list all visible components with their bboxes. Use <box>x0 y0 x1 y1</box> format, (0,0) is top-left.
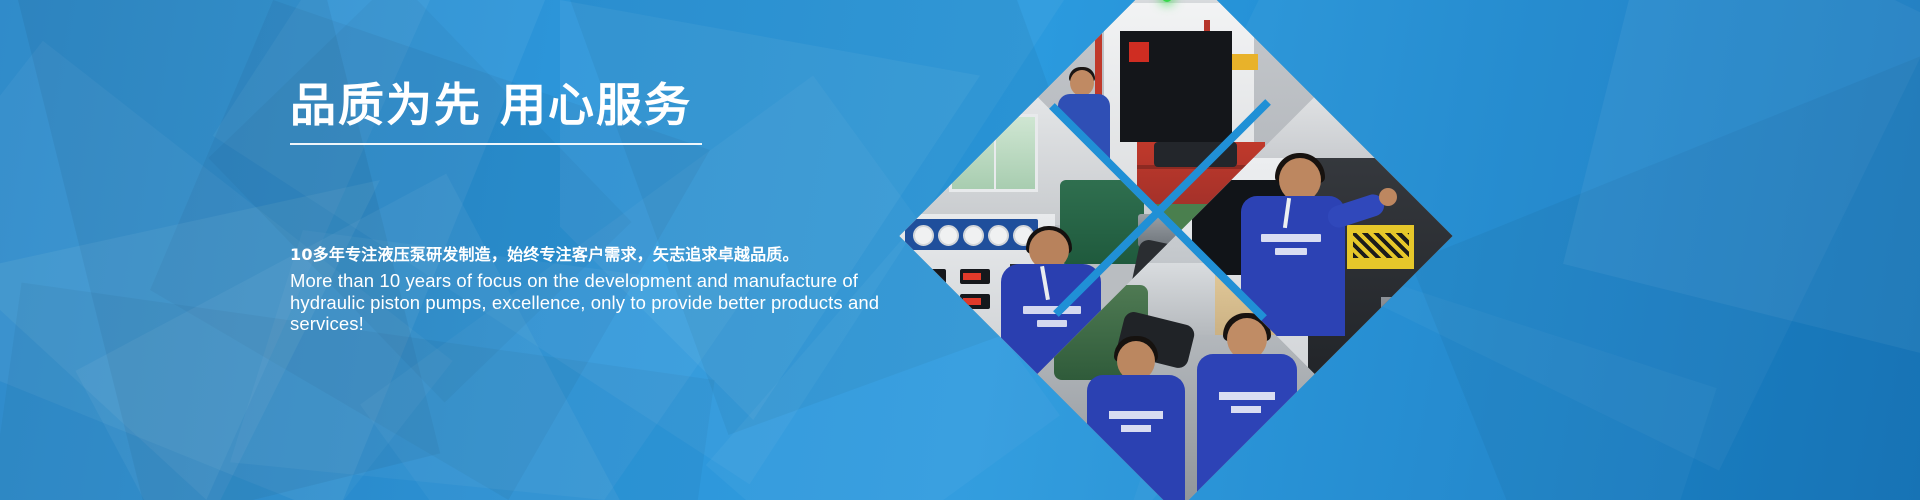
banner-text-block: 品质为先 用心服务 10多年专注液压泵研发制造，始终专注客户需求，矢志追求卓越品… <box>286 0 946 500</box>
diamond-photo-collage <box>880 0 1280 478</box>
headline-underline <box>290 143 702 145</box>
tagline-chinese: 10多年专注液压泵研发制造，始终专注客户需求，矢志追求卓越品质。 <box>290 241 799 265</box>
promo-banner: 品质为先 用心服务 10多年专注液压泵研发制造，始终专注客户需求，矢志追求卓越品… <box>0 0 1920 500</box>
tagline-english: More than 10 years of focus on the devel… <box>290 270 926 335</box>
banner-headline: 品质为先 用心服务 <box>290 82 692 128</box>
